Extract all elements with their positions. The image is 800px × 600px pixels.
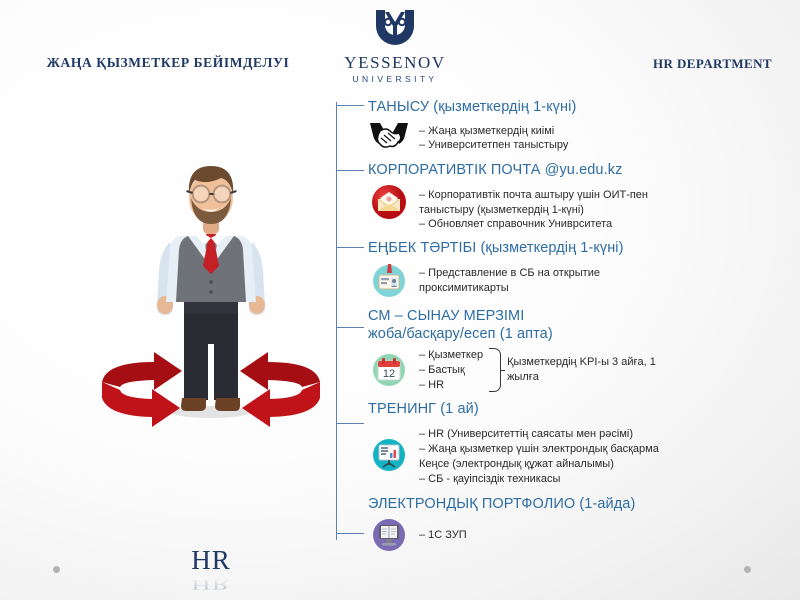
line: – СБ - қауіпсіздік техникасы — [419, 472, 659, 487]
hr-caption-reflection: HR — [96, 576, 326, 593]
timeline-tick-4 — [336, 327, 364, 328]
line: – Жаңа қызметкер үшін электрондық басқар… — [419, 442, 659, 457]
kpi-brace — [489, 348, 501, 392]
line: – 1С ЗУП — [419, 528, 467, 543]
presentation-board-icon — [368, 437, 410, 473]
section-heading: ЕҢБЕК ТӘРТІБІ (қызметкердің 1-күні) — [368, 239, 800, 258]
businessman-illustration: HR HR — [96, 150, 326, 460]
email-envelope-icon — [368, 184, 410, 220]
timeline-tick-1 — [336, 105, 364, 106]
section-probation: СМ – СЫНАУ МЕРЗІМІ жоба/басқару/есеп (1 … — [368, 307, 800, 393]
section-heading: КОРПОРАТИВТІК ПОЧТА @yu.edu.kz — [368, 161, 800, 180]
line: – HR — [419, 378, 483, 393]
line: – Қызметкер — [419, 348, 483, 363]
section-eportfolio: ЭЛЕКТРОНДЫҚ ПОРТФОЛИО (1-айда) – 1С ЗУП — [368, 495, 800, 553]
line: – Университетпен таныстыру — [419, 138, 568, 153]
section-lines: – Корпоративтік почта аштыру үшін ОИТ-пе… — [419, 184, 648, 233]
timeline-sections: ТАНЫСУ (қызметкердің 1-күні) – Жаңа қызм… — [368, 95, 800, 553]
line: – Бастық — [419, 363, 483, 378]
page-title-left: ЖАҢА ҚЫЗМЕТКЕР БЕЙІМДЕЛУІ — [18, 55, 318, 71]
section-heading: ТРЕНИНГ (1 ай) — [368, 400, 800, 419]
section-training: ТРЕНИНГ (1 ай) – HR (Университеттің саяс… — [368, 400, 800, 486]
kpi-note: Қызметкердің KPI-ы 3 айға, 1 жылға — [507, 355, 659, 385]
timeline-tick-3 — [336, 247, 364, 248]
section-lines: – Жаңа қызметкердің киімі – Университетп… — [419, 120, 568, 154]
monitor-book-icon — [368, 517, 410, 553]
section-heading: ТАНЫСУ (қызметкердің 1-күні) — [368, 98, 800, 117]
handshake-icon — [368, 120, 410, 150]
line: – Корпоративтік почта аштыру үшін ОИТ-пе… — [419, 188, 648, 203]
hr-caption: HR — [96, 545, 326, 576]
timeline-tick-2 — [336, 170, 364, 171]
line: таныстыру (қызметкердің 1-күні) — [419, 203, 648, 218]
section-heading-line2: жоба/басқару/есеп (1 апта) — [368, 325, 800, 344]
section-lines: – Представление в СБ на открытие проксим… — [419, 262, 600, 296]
businessman-figure-icon — [96, 150, 326, 460]
timeline-spine — [336, 102, 342, 540]
line: – HR (Университеттің саясаты мен рәсімі) — [419, 427, 659, 442]
line: – Представление в СБ на открытие — [419, 266, 600, 281]
section-tanysu: ТАНЫСУ (қызметкердің 1-күні) – Жаңа қызм… — [368, 98, 800, 153]
section-corporate-mail: КОРПОРАТИВТІК ПОЧТА @yu.edu.kz — [368, 161, 800, 232]
yessenov-y-logo-icon — [372, 8, 418, 52]
calendar-day-number: 12 — [383, 368, 395, 380]
decorative-dot-right — [744, 566, 751, 573]
section-labor-discipline: ЕҢБЕК ТӘРТІБІ (қызметкердің 1-күні) – Пр… — [368, 239, 800, 298]
timeline-tick-6 — [336, 533, 364, 534]
line: проксимитикарты — [419, 281, 600, 296]
timeline-tick-5 — [336, 423, 364, 424]
line: Кеңсе (электрондық құжат айналымы) — [419, 457, 659, 472]
section-lines: – HR (Университеттің саясаты мен рәсімі)… — [419, 423, 659, 486]
page-title-right: HR DEPARTMENT — [653, 56, 772, 72]
university-logo: YESSENOV UNIVERSITY — [330, 8, 460, 84]
section-lines: – Қызметкер – Бастық – HR — [419, 348, 483, 393]
section-heading: ЭЛЕКТРОНДЫҚ ПОРТФОЛИО (1-айда) — [368, 495, 800, 514]
calendar-icon: 12 — [368, 352, 410, 388]
line: – Обновляет справочник Униврситета — [419, 217, 648, 232]
line: – Жаңа қызметкердің киімі — [419, 124, 568, 139]
section-lines: – 1С ЗУП — [419, 528, 467, 543]
id-badge-icon — [368, 262, 410, 298]
logo-wordmark: YESSENOV — [330, 54, 460, 72]
logo-subtext: UNIVERSITY — [330, 74, 460, 84]
decorative-dot-left — [53, 566, 60, 573]
section-heading-line1: СМ – СЫНАУ МЕРЗІМІ — [368, 307, 800, 326]
